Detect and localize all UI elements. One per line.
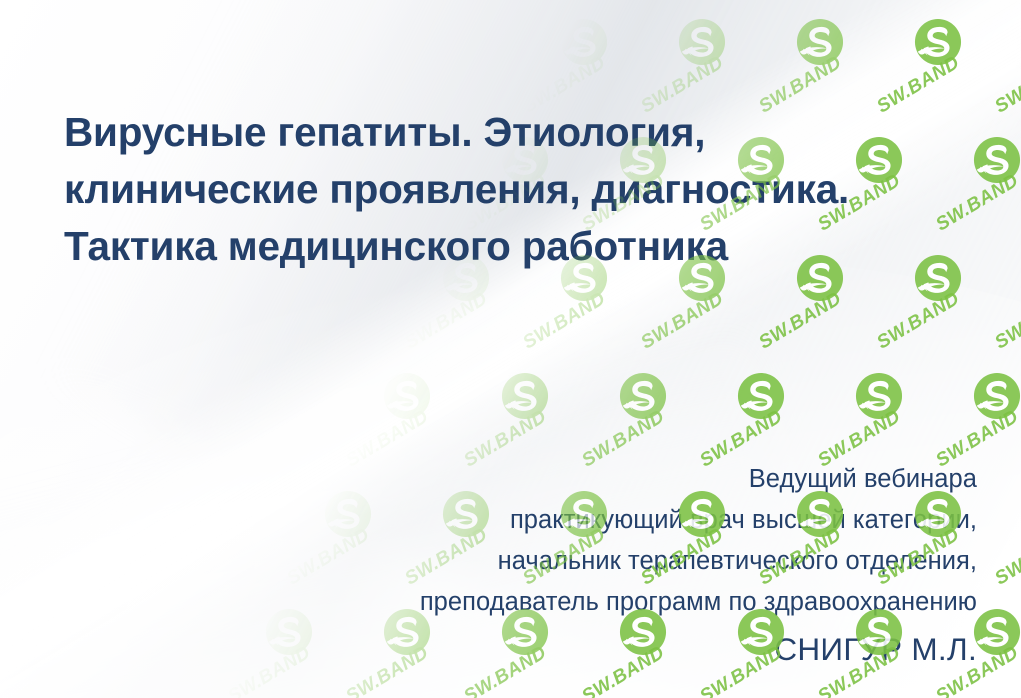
- slide-title: Вирусные гепатиты. Этиология, клинически…: [64, 104, 964, 275]
- credit-line-role: Ведущий вебинара: [217, 459, 977, 500]
- credit-line-qualification: практикующий врач высшей категории,: [217, 500, 977, 541]
- presentation-slide: Вирусные гепатиты. Этиология, клинически…: [0, 0, 1021, 698]
- credit-line-teaching: преподаватель программ по здравоохранени…: [217, 582, 977, 623]
- credit-line-position: начальник терапевтического отделения,: [217, 541, 977, 582]
- presenter-credits-block: Ведущий вебинара практикующий врач высше…: [217, 459, 977, 673]
- presenter-name: СНИГУР М.Л.: [217, 625, 977, 673]
